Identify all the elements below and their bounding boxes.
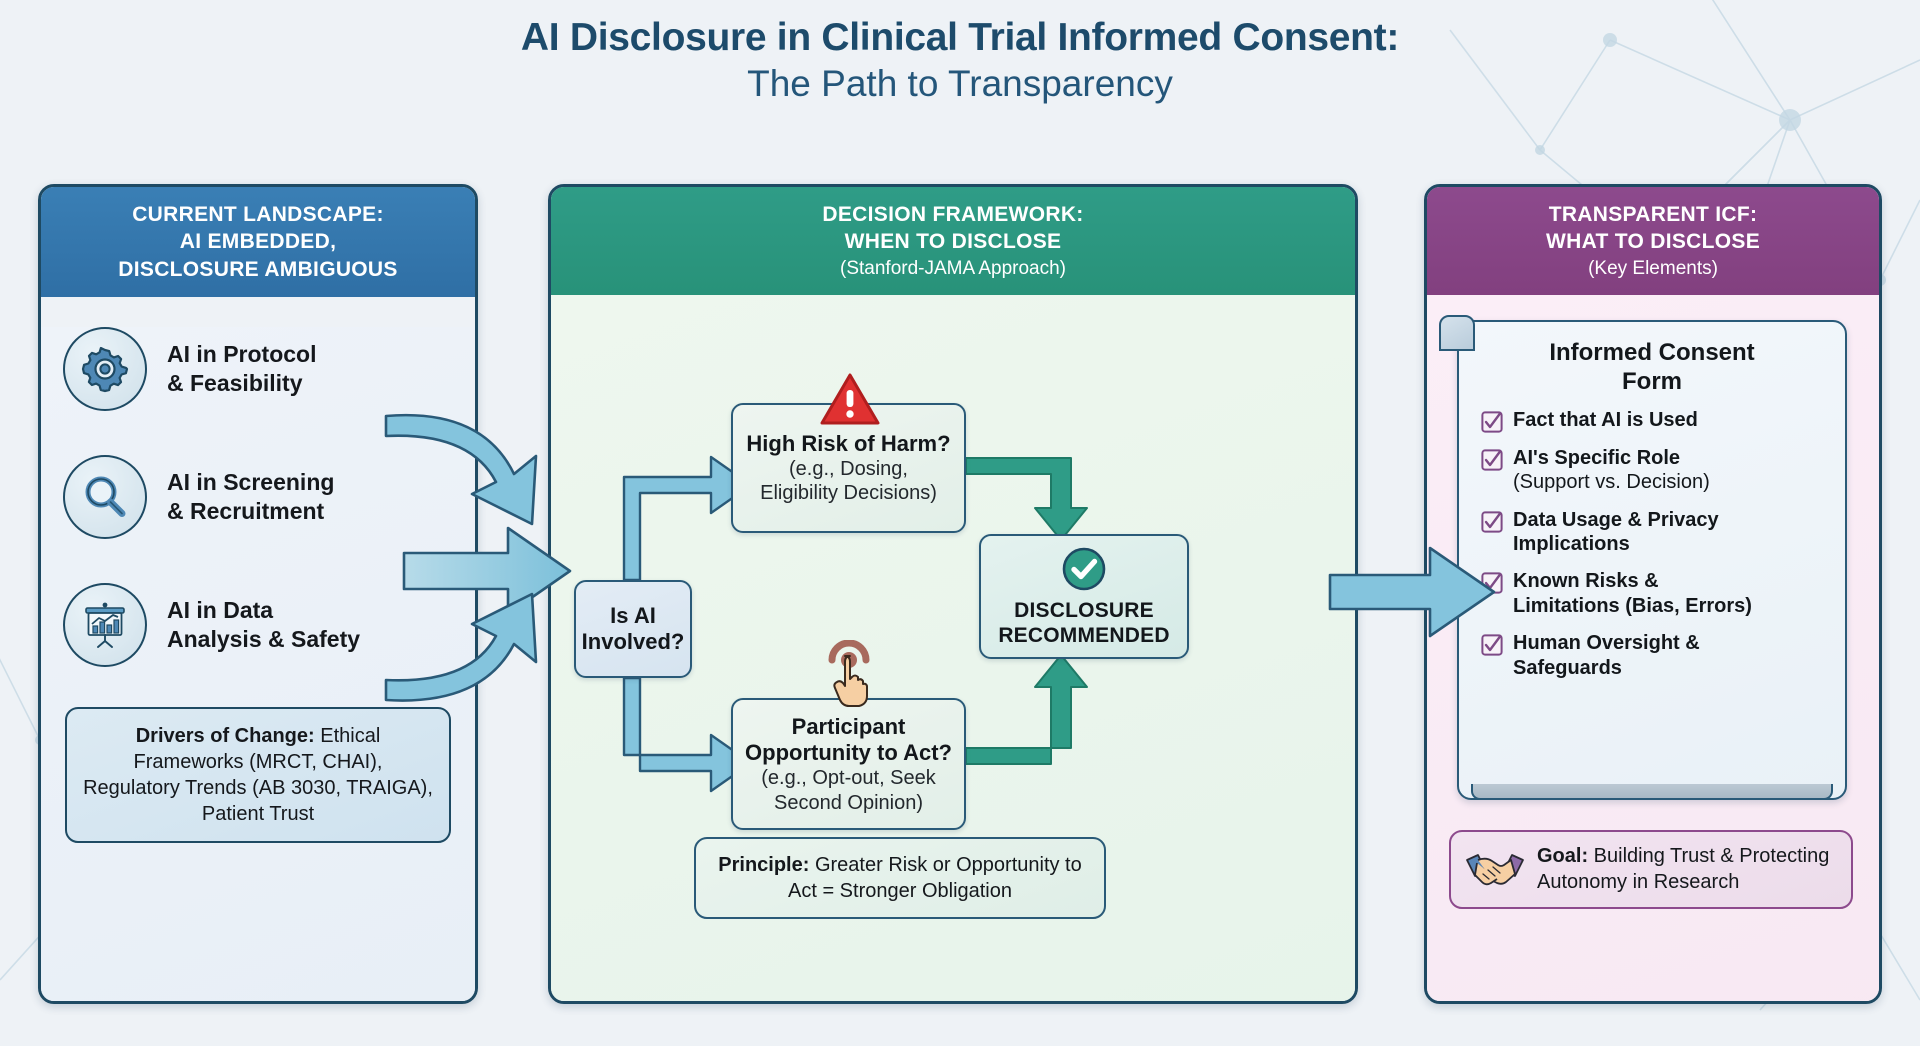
left-header-line2: AI EMBEDDED,	[51, 228, 465, 255]
flow-node-participant-opportunity[interactable]: Participant Opportunity to Act? (e.g., O…	[731, 698, 966, 830]
icf-checklist-item[interactable]: AI's Specific Role (Support vs. Decision…	[1481, 446, 1827, 495]
principle-text: Greater Risk or Opportunity to Act = Str…	[788, 854, 1082, 902]
document-base-shadow	[1471, 784, 1833, 800]
checkbox-checked-icon	[1481, 449, 1503, 471]
node-participant-title1: Participant	[741, 714, 956, 740]
warning-triangle-icon	[819, 371, 881, 427]
node-high-risk-title: High Risk of Harm?	[741, 431, 956, 457]
document-fold-corner-icon	[1439, 315, 1475, 351]
panel-decision-framework: DECISION FRAMEWORK: WHEN TO DISCLOSE (St…	[548, 184, 1358, 1004]
left-header-line1: CURRENT LANDSCAPE:	[51, 201, 465, 228]
right-panel-body: Informed Consent Form Fact that AI is Us…	[1427, 295, 1879, 1004]
mid-header-line2: WHEN TO DISCLOSE	[561, 228, 1345, 255]
landscape-label-protocol: AI in Protocol & Feasibility	[167, 340, 317, 397]
node-participant-sub2: Second Opinion)	[741, 791, 956, 815]
right-panel-header: TRANSPARENT ICF: WHAT TO DISCLOSE (Key E…	[1427, 187, 1879, 295]
flow-node-is-ai-involved[interactable]: Is AI Involved?	[574, 580, 692, 678]
principle-label: Principle:	[718, 854, 809, 876]
node-participant-sub1: (e.g., Opt-out, Seek	[741, 766, 956, 790]
icf-checklist-item[interactable]: Known Risks & Limitations (Bias, Errors)	[1481, 569, 1827, 618]
icf-checklist: Fact that AI is Used AI's Specific Role …	[1459, 408, 1845, 680]
landscape-label-screening: AI in Screening & Recruitment	[167, 468, 334, 525]
checkbox-checked-icon	[1481, 572, 1503, 594]
icf-card-title: Informed Consent Form	[1459, 322, 1845, 408]
icf-item-text: Human Oversight & Safeguards	[1513, 631, 1700, 680]
checkbox-checked-icon	[1481, 634, 1503, 656]
page-title: AI Disclosure in Clinical Trial Informed…	[0, 16, 1920, 105]
icf-item-text: AI's Specific Role (Support vs. Decision…	[1513, 446, 1710, 495]
goal-text: Goal: Building Trust & Protecting Autono…	[1537, 844, 1837, 895]
checkbox-checked-icon	[1481, 511, 1503, 533]
icf-item-text: Known Risks & Limitations (Bias, Errors)	[1513, 569, 1752, 618]
check-circle-icon	[1061, 546, 1107, 592]
mid-header-line1: DECISION FRAMEWORK:	[561, 201, 1345, 228]
landscape-item-data[interactable]: AI in Data Analysis & Safety	[41, 583, 475, 667]
drivers-of-change-box: Drivers of Change: Ethical Frameworks (M…	[65, 707, 451, 843]
right-header-line3: (Key Elements)	[1437, 257, 1869, 282]
right-header-line1: TRANSPARENT ICF:	[1437, 201, 1869, 228]
panel-transparent-icf: TRANSPARENT ICF: WHAT TO DISCLOSE (Key E…	[1424, 184, 1882, 1004]
icf-checklist-item[interactable]: Fact that AI is Used	[1481, 408, 1827, 433]
checkbox-checked-icon	[1481, 411, 1503, 433]
tap-hand-icon	[821, 640, 879, 710]
left-panel-body: AI in Protocol & Feasibility AI in Scree…	[41, 327, 475, 1004]
icf-checklist-item[interactable]: Data Usage & Privacy Implications	[1481, 508, 1827, 557]
mid-header-line3: (Stanford-JAMA Approach)	[561, 257, 1345, 282]
icf-item-text: Data Usage & Privacy Implications	[1513, 508, 1719, 557]
goal-label: Goal:	[1537, 845, 1588, 867]
mid-panel-body: Is AI Involved? High Risk of Harm? (e.g.…	[551, 295, 1355, 1004]
flow-node-disclosure-recommended[interactable]: DISCLOSURE RECOMMENDED	[979, 534, 1189, 659]
left-header-line3: DISCLOSURE AMBIGUOUS	[51, 256, 465, 283]
right-header-line2: WHAT TO DISCLOSE	[1437, 228, 1869, 255]
drivers-label: Drivers of Change:	[136, 725, 315, 747]
handshake-icon	[1465, 846, 1525, 894]
node-participant-title2: Opportunity to Act?	[741, 740, 956, 766]
page-title-line1: AI Disclosure in Clinical Trial Informed…	[0, 16, 1920, 60]
landscape-item-screening[interactable]: AI in Screening & Recruitment	[41, 455, 475, 539]
page-title-line2: The Path to Transparency	[0, 62, 1920, 106]
goal-box: Goal: Building Trust & Protecting Autono…	[1449, 830, 1853, 909]
node-disclosure-label: DISCLOSURE RECOMMENDED	[998, 598, 1169, 648]
node-is-ai-label: Is AI Involved?	[582, 603, 685, 656]
landscape-item-protocol[interactable]: AI in Protocol & Feasibility	[41, 327, 475, 411]
informed-consent-form-card: Informed Consent Form Fact that AI is Us…	[1457, 320, 1847, 800]
gear-icon	[63, 327, 147, 411]
magnifier-icon	[63, 455, 147, 539]
landscape-label-data: AI in Data Analysis & Safety	[167, 596, 360, 653]
node-high-risk-sub2: Eligibility Decisions)	[741, 481, 956, 505]
principle-box: Principle: Greater Risk or Opportunity t…	[694, 837, 1106, 919]
icf-item-text: Fact that AI is Used	[1513, 408, 1698, 432]
node-high-risk-sub1: (e.g., Dosing,	[741, 457, 956, 481]
icf-checklist-item[interactable]: Human Oversight & Safeguards	[1481, 631, 1827, 680]
chart-presentation-icon	[63, 583, 147, 667]
panel-current-landscape: CURRENT LANDSCAPE: AI EMBEDDED, DISCLOSU…	[38, 184, 478, 1004]
left-panel-header: CURRENT LANDSCAPE: AI EMBEDDED, DISCLOSU…	[41, 187, 475, 297]
mid-panel-header: DECISION FRAMEWORK: WHEN TO DISCLOSE (St…	[551, 187, 1355, 295]
